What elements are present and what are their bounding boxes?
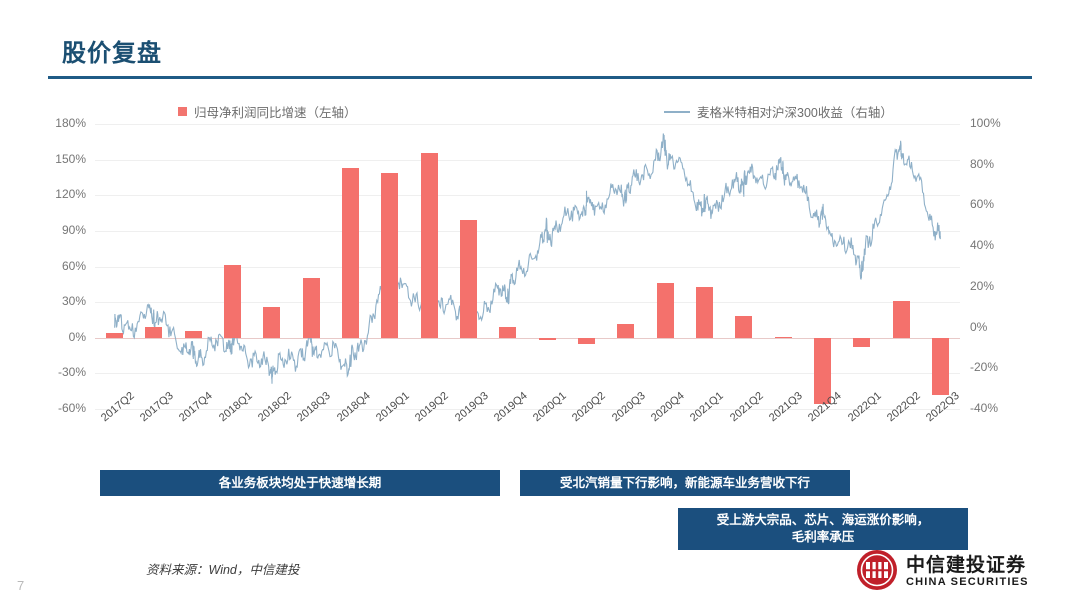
citic-emblem-icon (856, 549, 898, 596)
company-logo: 中信建投证券 CHINA SECURITIES (856, 549, 1029, 596)
y-axis-left-tick: 60% (62, 259, 86, 273)
logo-text-block: 中信建投证券 CHINA SECURITIES (906, 556, 1029, 589)
bar-2020Q4 (657, 283, 674, 338)
y-axis-right-tick: 80% (970, 157, 994, 171)
legend-square-marker-icon (178, 107, 187, 116)
logo-name-en: CHINA SECURITIES (906, 576, 1029, 589)
y-axis-right-tick: 100% (970, 116, 1001, 130)
y-axis-left-tick: -60% (58, 401, 86, 415)
source-note: 资料来源：Wind，中信建投 (146, 559, 299, 578)
y-axis-left-tick: 150% (55, 152, 86, 166)
y-axis-left-tick: 90% (62, 223, 86, 237)
plot-canvas (95, 124, 960, 409)
bar-2020Q3 (617, 324, 634, 338)
y-axis-right-tick: -20% (970, 360, 998, 374)
legend-item-relative-return: 麦格米特相对沪深300收益（右轴） (664, 102, 893, 121)
bar-2022Q2 (893, 301, 910, 338)
y-axis-left-tick: 180% (55, 116, 86, 130)
y-axis-left: 180%150%120%90%60%30%0%-30%-60% (36, 124, 86, 409)
bar-2020Q2 (578, 338, 595, 344)
logo-name-cn: 中信建投证券 (906, 556, 1029, 576)
bar-2021Q1 (696, 287, 713, 338)
bar-2017Q4 (185, 331, 202, 338)
legend-item-profit-growth: 归母净利润同比增速（左轴） (178, 102, 357, 121)
y-axis-right-tick: 0% (970, 320, 987, 334)
y-axis-right: 100%80%60%40%20%0%-20%-40% (970, 124, 1026, 409)
callout-cost-pressure-line2: 毛利率承压 (792, 530, 855, 544)
bar-2017Q2 (106, 333, 123, 338)
bar-2020Q1 (539, 338, 556, 340)
callout-growth-phase-text: 各业务板块均处于快速增长期 (219, 475, 382, 492)
legend-label-profit-growth: 归母净利润同比增速（左轴） (194, 102, 357, 121)
page-title: 股价复盘 (62, 33, 162, 68)
callout-cost-pressure-text: 受上游大宗品、芯片、海运涨价影响， 毛利率承压 (717, 512, 930, 546)
bar-2017Q3 (145, 327, 162, 338)
bar-2018Q3 (303, 278, 320, 337)
bar-2018Q1 (224, 265, 241, 337)
x-axis: 2017Q22017Q32017Q42018Q12018Q22018Q32018… (95, 409, 960, 461)
callout-baic-decline-text: 受北汽销量下行影响，新能源车业务营收下行 (560, 475, 810, 492)
y-axis-right-tick: -40% (970, 401, 998, 415)
bar-2021Q3 (775, 337, 792, 338)
page-number: 7 (17, 578, 24, 593)
bar-2018Q4 (342, 168, 359, 338)
bar-2021Q2 (735, 316, 752, 337)
callout-cost-pressure: 受上游大宗品、芯片、海运涨价影响， 毛利率承压 (678, 508, 968, 550)
callout-baic-decline: 受北汽销量下行影响，新能源车业务营收下行 (520, 470, 850, 496)
legend-line-marker-icon (664, 111, 690, 113)
bar-2021Q4 (814, 338, 831, 405)
y-axis-right-tick: 40% (970, 238, 994, 252)
callout-cost-pressure-line1: 受上游大宗品、芯片、海运涨价影响， (717, 513, 930, 527)
bar-2019Q2 (421, 153, 438, 338)
chart-plot-area (95, 124, 960, 409)
y-axis-right-tick: 60% (970, 197, 994, 211)
y-axis-left-tick: 30% (62, 294, 86, 308)
y-axis-left-tick: -30% (58, 365, 86, 379)
bar-2018Q2 (263, 307, 280, 338)
bar-2019Q4 (499, 327, 516, 338)
y-axis-left-tick: 0% (69, 330, 86, 344)
legend-label-relative-return: 麦格米特相对沪深300收益（右轴） (697, 102, 893, 121)
callout-growth-phase: 各业务板块均处于快速增长期 (100, 470, 500, 496)
bar-2019Q3 (460, 220, 477, 338)
y-axis-left-tick: 120% (55, 187, 86, 201)
y-axis-right-tick: 20% (970, 279, 994, 293)
bar-2022Q3 (932, 338, 949, 395)
bar-2022Q1 (853, 338, 870, 348)
bar-2019Q1 (381, 173, 398, 338)
title-divider (48, 76, 1032, 79)
